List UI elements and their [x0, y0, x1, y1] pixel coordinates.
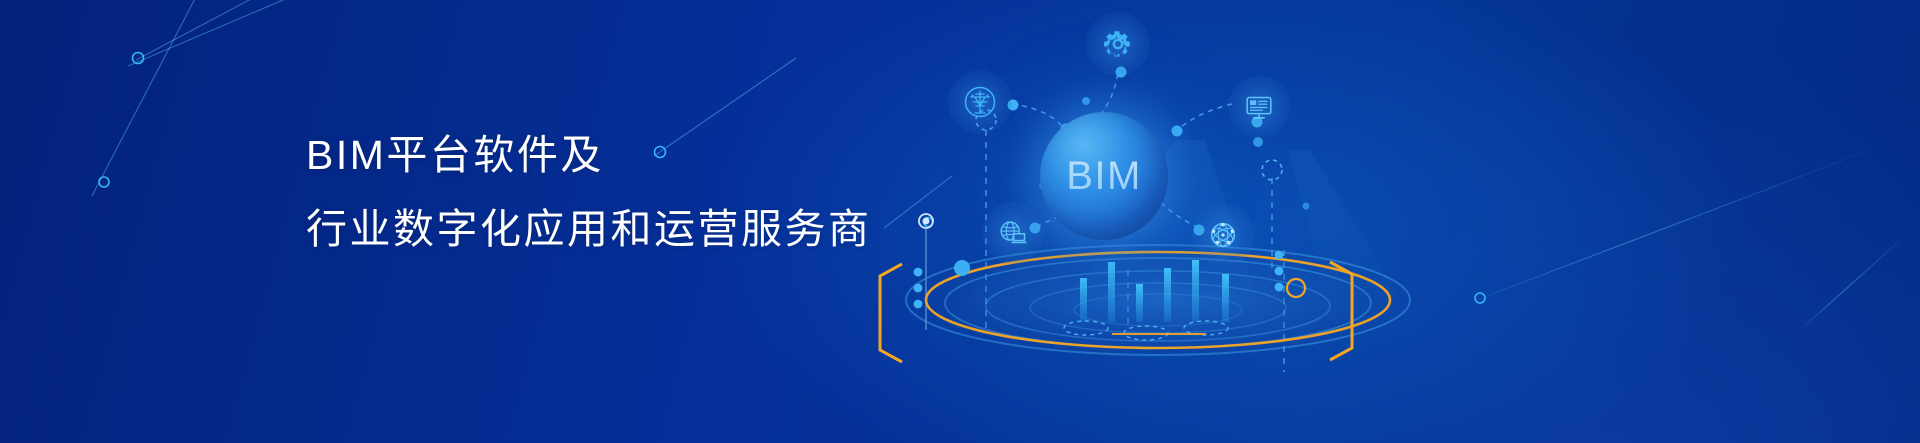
network-nodes-icon-bubble: [1192, 204, 1254, 266]
dot-column-right: [1275, 251, 1284, 292]
hero-banner: BIM平台软件及 行业数字化应用和运营服务商 BIM: [0, 0, 1920, 443]
headline-line-1: BIM平台软件及: [306, 118, 872, 192]
monitor-icon-bubble: [1228, 76, 1290, 138]
gear-icon: [1101, 27, 1135, 61]
dot-column-left: [914, 268, 923, 309]
headline-line-2: 行业数字化应用和运营服务商: [306, 192, 872, 266]
bracket-left: [880, 264, 902, 362]
power-tower-icon: [962, 84, 998, 120]
hero-headline: BIM平台软件及 行业数字化应用和运营服务商: [306, 118, 872, 266]
globe-laptop-icon: [996, 216, 1030, 250]
gear-icon-bubble: [1086, 12, 1150, 76]
bim-sphere: [1040, 112, 1168, 240]
background-decoration: [0, 0, 1920, 443]
platform-rings: [902, 242, 1414, 358]
globe-laptop-icon-bubble: [982, 202, 1044, 264]
monitor-icon: [1242, 90, 1276, 124]
power-tower-icon-bubble: [948, 70, 1012, 134]
network-nodes-icon: [1206, 218, 1240, 252]
